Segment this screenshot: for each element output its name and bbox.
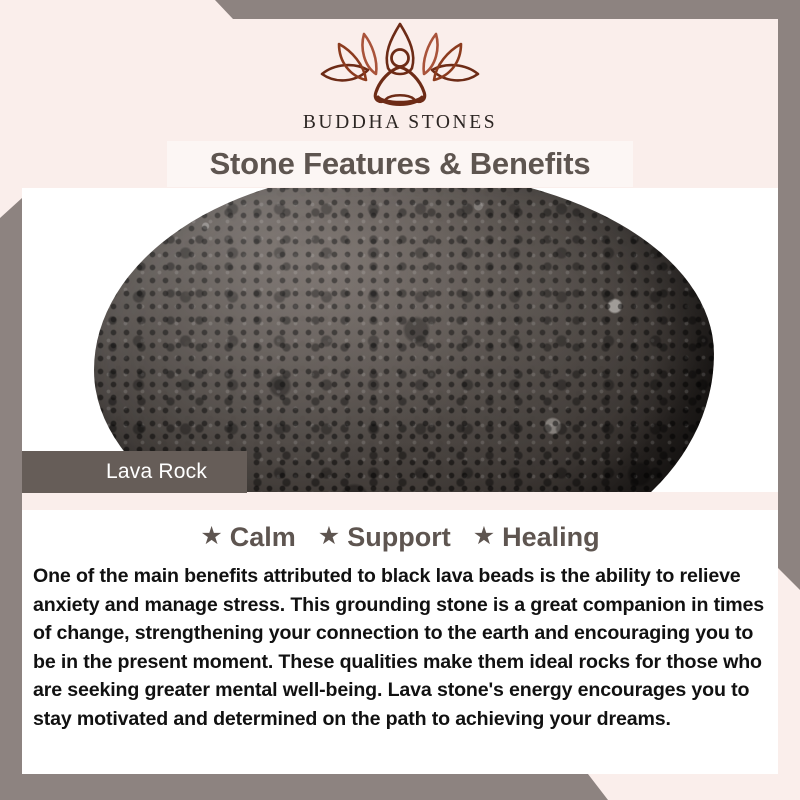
lava-rock-shape (94, 188, 714, 492)
star-icon: ★ (473, 524, 495, 549)
benefit-label: Healing (502, 522, 600, 553)
star-icon: ★ (318, 524, 340, 549)
body-section: ★ Calm ★ Support ★ Healing One of the ma… (22, 510, 778, 774)
star-icon: ★ (200, 524, 222, 549)
brand-logo: BUDDHA STONES (0, 18, 800, 134)
frame-left-bar (0, 198, 22, 800)
benefit-item-healing: ★ Healing (473, 522, 600, 553)
benefit-label: Calm (230, 522, 296, 553)
benefit-item-support: ★ Support (318, 522, 451, 553)
benefits-row: ★ Calm ★ Support ★ Healing (22, 522, 778, 553)
section-divider (22, 492, 778, 510)
benefit-label: Support (347, 522, 450, 553)
brand-name: BUDDHA STONES (0, 112, 800, 134)
lotus-meditation-figure-icon (316, 18, 484, 110)
frame-right-bar (778, 0, 800, 590)
description-paragraph: One of the main benefits attributed to b… (33, 562, 779, 734)
stone-name-label: Lava Rock (106, 460, 207, 484)
hero-image (22, 188, 778, 492)
stone-name-tag: Lava Rock (22, 451, 247, 493)
infographic-card: BUDDHA STONES Stone Features & Benefits … (0, 0, 800, 800)
lava-rock-photo (22, 188, 778, 492)
title-band: Stone Features & Benefits (167, 141, 633, 187)
benefit-item-calm: ★ Calm (200, 522, 295, 553)
page-title: Stone Features & Benefits (210, 146, 591, 182)
